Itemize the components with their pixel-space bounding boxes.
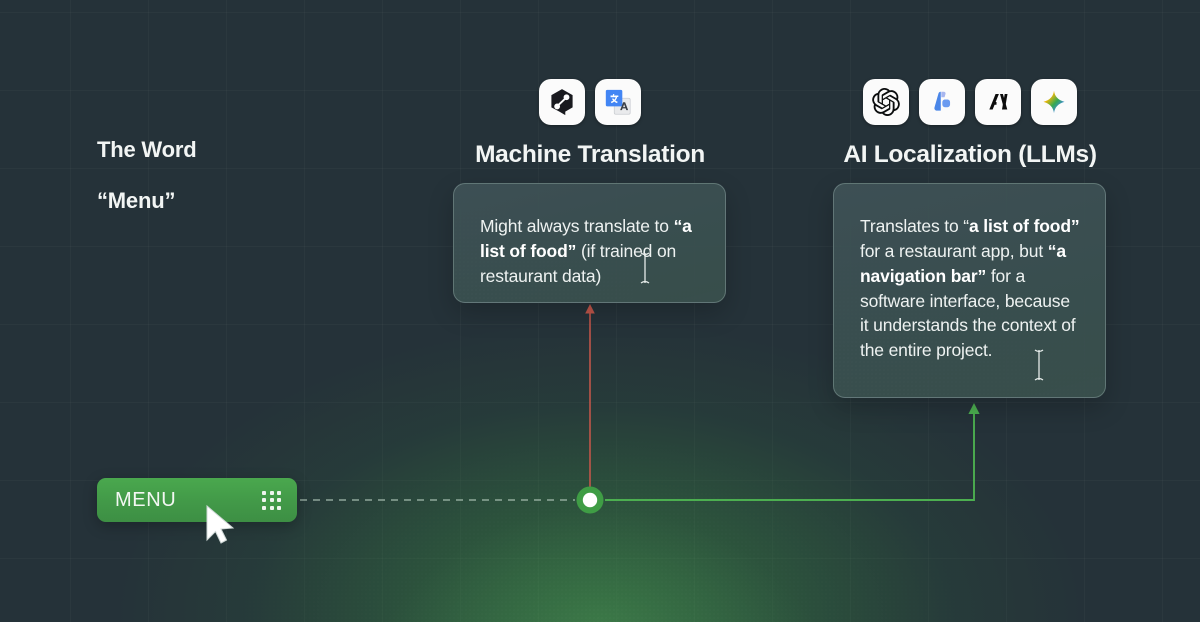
column-header-machine-translation: Machine Translation: [440, 79, 740, 169]
card-ai-localization: Translates to “a list of food” for a res…: [833, 183, 1106, 398]
column-title-ai-localization: AI Localization (LLMs): [820, 141, 1120, 169]
gemini-icon[interactable]: [1031, 79, 1077, 125]
menu-button[interactable]: MENU: [97, 478, 297, 522]
menu-button-label: MENU: [115, 489, 176, 512]
openai-icon[interactable]: [863, 79, 909, 125]
column-title-machine-translation: Machine Translation: [440, 141, 740, 169]
icon-row-ai-localization: [820, 79, 1120, 125]
icon-row-machine-translation: [440, 79, 740, 125]
card-mt-seg-0: Might always translate to: [480, 216, 674, 236]
card-machine-translation: Might always translate to “a list of foo…: [453, 183, 726, 303]
copilot-icon[interactable]: [919, 79, 965, 125]
google-translate-icon[interactable]: [595, 79, 641, 125]
card-text-machine-translation: Might always translate to “a list of foo…: [480, 214, 701, 289]
anthropic-icon[interactable]: [975, 79, 1021, 125]
grid-icon: [262, 491, 281, 510]
word-label-block: The Word “Menu”: [97, 138, 196, 213]
card-llm-seg-1: a list of food”: [969, 216, 1080, 236]
deepl-icon[interactable]: [539, 79, 585, 125]
diagram-canvas: The Word “Menu”: [0, 0, 1200, 622]
word-label-title: The Word: [97, 138, 196, 162]
word-label-value: “Menu”: [97, 189, 196, 213]
card-text-ai-localization: Translates to “a list of food” for a res…: [860, 214, 1081, 363]
card-llm-seg-0: Translates to “: [860, 216, 969, 236]
column-header-ai-localization: AI Localization (LLMs): [820, 79, 1120, 169]
card-llm-seg-2: for a restaurant app, but: [860, 241, 1048, 261]
